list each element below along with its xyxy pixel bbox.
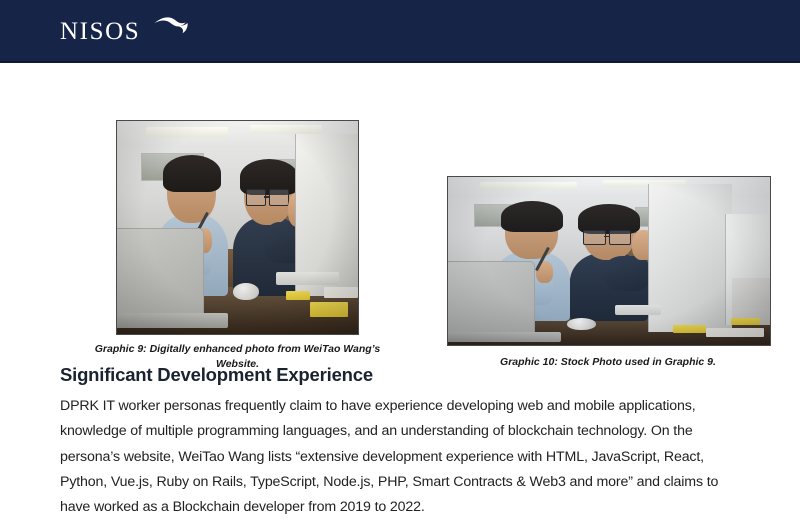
graphic-9-image xyxy=(116,120,359,335)
seagull-bird-icon xyxy=(152,14,194,41)
photo-scene-cool xyxy=(448,177,770,345)
section-heading: Significant Development Experience xyxy=(60,364,742,386)
brand-wordmark: NISOS xyxy=(60,19,140,44)
section-paragraph: DPRK IT worker personas frequently claim… xyxy=(60,394,742,520)
brand-logo[interactable]: NISOS xyxy=(60,14,194,48)
graphic-10-image xyxy=(447,176,771,346)
figure-graphic-10: Graphic 10: Stock Photo used in Graphic … xyxy=(447,176,771,370)
article-text-block: Significant Development Experience DPRK … xyxy=(60,364,742,520)
page-header: NISOS xyxy=(0,0,800,63)
photo-scene-warm xyxy=(117,121,358,334)
figure-graphic-9: Graphic 9: Digitally enhanced photo from… xyxy=(116,120,359,372)
page-content: Graphic 9: Digitally enhanced photo from… xyxy=(0,63,800,507)
